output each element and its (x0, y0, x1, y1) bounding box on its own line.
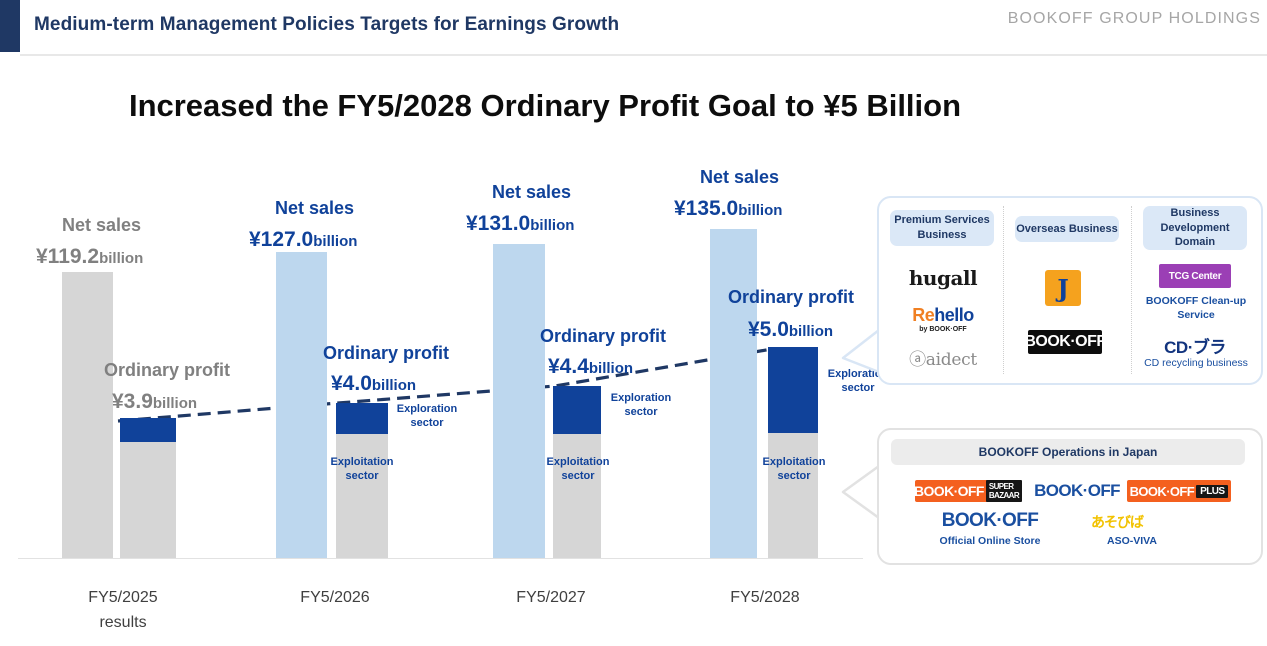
panel-head-premium-services: Premium Services Business (890, 210, 994, 246)
net-sales-unit-1: billion (313, 233, 357, 250)
net-sales-title-3: Net sales (700, 167, 779, 188)
ordinary-profit-title-1: Ordinary profit (323, 343, 449, 364)
aidect-logo: ⓐaidect (901, 346, 985, 368)
ordinary-profit-value-1: ¥4.0billion (331, 372, 416, 396)
bookoff-super-bazaar-main: BOOK·OFF (914, 483, 986, 499)
ordinary-profit-unit-1: billion (372, 377, 416, 394)
hugall-logo: hugall (903, 266, 983, 290)
ordinary-profit-unit-0: billion (153, 395, 197, 412)
ordinary-profit-amount-1: ¥4.0 (331, 372, 372, 395)
exploitation-segment-3 (768, 433, 818, 558)
ordinary-profit-unit-2: billion (589, 360, 633, 377)
x-axis-label-0: FY5/2025 results (58, 586, 188, 636)
exploration-segment-2 (553, 386, 601, 434)
cd-bura-logo: CD·ブラ (1161, 334, 1229, 356)
rehello-logo-subtext: by BOOK·OFF (899, 324, 987, 334)
exploration-segment-0 (120, 418, 176, 442)
bookoff-super-bazaar-sub: SUPER BAZAAR (986, 480, 1022, 502)
bookoff-online-store-caption: Official Online Store (919, 534, 1061, 548)
panel-divider-2 (1131, 206, 1132, 374)
exploitation-sector-label-1: Exploitation sector (325, 456, 399, 484)
earnings-growth-chart: Net sales ¥119.2billion Ordinary profit … (0, 0, 880, 646)
net-sales-value-3: ¥135.0billion (674, 197, 782, 221)
net-sales-unit-2: billion (530, 217, 574, 234)
net-sales-value-2: ¥131.0billion (466, 212, 574, 236)
bookoff-super-bazaar-logo: BOOK·OFFSUPER BAZAAR (915, 480, 1021, 502)
exploration-sector-label-2: Exploration sector (604, 392, 678, 420)
ordinary-profit-unit-3: billion (789, 323, 833, 340)
bookoff-plus-sub: PLUS (1196, 485, 1228, 498)
exploration-segment-1 (336, 403, 388, 434)
x-axis-label-3: FY5/2028 (700, 586, 830, 611)
net-sales-unit-0: billion (99, 250, 143, 267)
cd-recycling-caption: CD recycling business (1137, 356, 1255, 370)
ordinary-profit-value-0: ¥3.9billion (112, 390, 197, 414)
ordinary-profit-title-3: Ordinary profit (728, 287, 854, 308)
rehello-logo: Rehello (899, 304, 987, 326)
panel-head-business-development: Business Development Domain (1143, 206, 1247, 250)
exploration-segment-3 (768, 347, 818, 433)
ordinary-profit-amount-3: ¥5.0 (748, 318, 789, 341)
growth-business-panel: Premium Services Business Overseas Busin… (877, 196, 1263, 385)
net-sales-bar-2 (493, 244, 545, 558)
ordinary-profit-value-3: ¥5.0billion (748, 318, 833, 342)
exploration-sector-label-1: Exploration sector (390, 403, 464, 431)
bookoff-logo: BOOK·OFF (1031, 480, 1123, 502)
exploitation-segment-0 (120, 442, 176, 558)
net-sales-unit-3: billion (738, 202, 782, 219)
net-sales-bar-3 (710, 229, 757, 558)
rehello-logo-hello: hello (934, 305, 974, 326)
aso-viva-glyph: あそびば (1091, 514, 1143, 530)
net-sales-amount-2: ¥131.0 (466, 212, 530, 235)
net-sales-value-1: ¥127.0billion (249, 228, 357, 252)
net-sales-amount-1: ¥127.0 (249, 228, 313, 251)
panel-divider-1 (1003, 206, 1004, 374)
ordinary-profit-title-0: Ordinary profit (104, 360, 230, 381)
panel-head-overseas-business: Overseas Business (1015, 216, 1119, 242)
net-sales-amount-3: ¥135.0 (674, 197, 738, 220)
ordinary-profit-title-2: Ordinary profit (540, 326, 666, 347)
exploitation-sector-label-2: Exploitation sector (541, 456, 615, 484)
net-sales-bar-1 (276, 252, 327, 558)
net-sales-value-0: ¥119.2billion (36, 245, 143, 269)
exploitation-sector-label-3: Exploitation sector (757, 456, 831, 484)
ordinary-profit-bar-3 (768, 347, 818, 558)
bookoff-online-store-logo: BOOK·OFF (935, 510, 1045, 532)
aso-viva-caption: ASO-VIVA (1077, 534, 1187, 548)
jmty-logo: J (1045, 270, 1081, 306)
net-sales-title-1: Net sales (275, 198, 354, 219)
ordinary-profit-amount-2: ¥4.4 (548, 355, 589, 378)
rehello-logo-re: Re (912, 305, 934, 326)
net-sales-title-2: Net sales (492, 182, 571, 203)
ordinary-profit-amount-0: ¥3.9 (112, 390, 153, 413)
japan-tcg-center-logo: TCG Center (1159, 264, 1231, 288)
x-axis-label-2: FY5/2027 (486, 586, 616, 611)
exploitation-segment-1 (336, 434, 388, 558)
net-sales-title-0: Net sales (62, 215, 141, 236)
bookoff-cleanup-caption: BOOKOFF Clean-up Service (1141, 294, 1251, 322)
ordinary-profit-bar-0 (120, 418, 176, 558)
exploitation-segment-2 (553, 434, 601, 558)
net-sales-amount-0: ¥119.2 (36, 245, 99, 268)
x-axis-label-1: FY5/2026 (270, 586, 400, 611)
aso-viva-logo: あそびば (1091, 512, 1143, 532)
chart-baseline (18, 558, 863, 559)
bookoff-plus-logo: BOOK·OFFPLUS (1127, 480, 1231, 502)
bookoff-plus-main: BOOK·OFF (1130, 484, 1197, 499)
bookoff-operations-band: BOOKOFF Operations in Japan (891, 439, 1245, 465)
net-sales-bar-0 (62, 272, 113, 558)
bookoff-black-logo: BOOK·OFF (1028, 330, 1102, 354)
bookoff-operations-panel: BOOKOFF Operations in Japan BOOK·OFFSUPE… (877, 428, 1263, 565)
ordinary-profit-value-2: ¥4.4billion (548, 355, 633, 379)
company-brand-label: BOOKOFF GROUP HOLDINGS (1008, 10, 1261, 28)
